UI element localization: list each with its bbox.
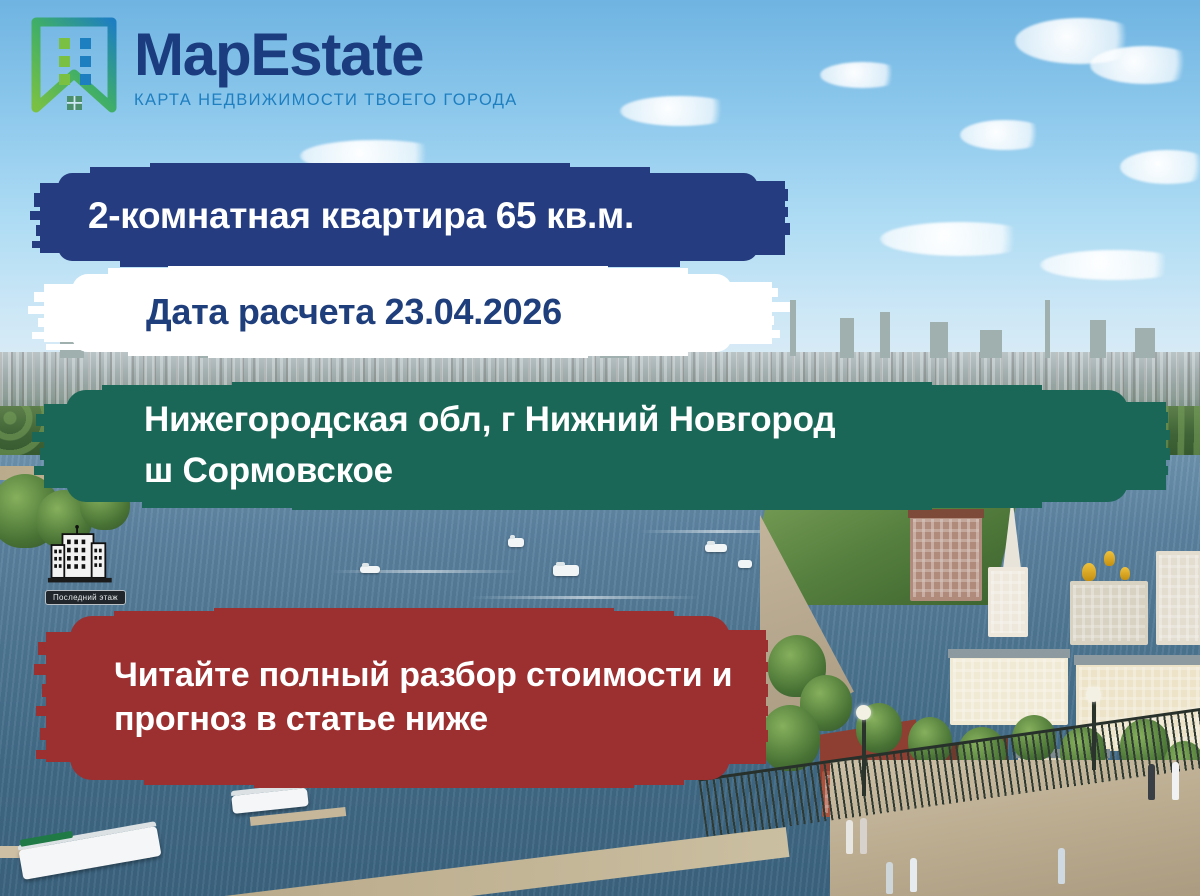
golden-dome-icon (1082, 563, 1096, 581)
address-line-1: Нижегородская обл, г Нижний Новгород (144, 398, 1132, 443)
property-title-banner: 2-комнатная квартира 65 кв.м. (30, 163, 790, 269)
logo-text-block: MapEstate КАРТА НЕДВИЖИМОСТИ ТВОЕГО ГОРО… (134, 23, 518, 109)
golden-dome-icon (1120, 567, 1130, 580)
property-title-text: 2-комнатная квартира 65 кв.м. (30, 192, 790, 239)
building-icon (42, 525, 134, 587)
building (988, 567, 1028, 637)
building (1070, 581, 1148, 645)
building (910, 515, 982, 601)
calculation-date-banner: Дата расчета 23.04.2026 (28, 266, 790, 358)
street-lamp-icon (862, 718, 866, 796)
skyline-building (1090, 320, 1106, 358)
golden-dome-icon (1104, 551, 1115, 566)
cloud-icon (820, 62, 905, 88)
boat-icon (705, 544, 727, 552)
cloud-icon (880, 222, 1040, 256)
skyline-building (790, 300, 796, 356)
skyline-building (980, 330, 1002, 358)
building (950, 655, 1068, 725)
boat-wake (470, 596, 700, 599)
cta-text: Читайте полный разбор стоимости и прогно… (34, 654, 768, 741)
cta-banner[interactable]: Читайте полный разбор стоимости и прогно… (34, 608, 768, 788)
building (1156, 551, 1200, 645)
roof (1074, 655, 1200, 665)
skyline-building (1135, 328, 1155, 358)
address-text-block: Нижегородская обл, г Нижний Новгород ш С… (32, 398, 1172, 494)
boat-icon (738, 560, 752, 568)
logo-title: MapEstate (134, 25, 518, 85)
pedestrian (846, 820, 853, 854)
boat-icon (360, 566, 380, 573)
skyline-building (880, 312, 890, 358)
skyline-building (930, 322, 948, 358)
street-lamp-icon (1092, 700, 1096, 770)
boat-icon (508, 538, 524, 547)
pedestrian (910, 858, 917, 892)
cloud-icon (960, 120, 1050, 150)
watermark-label: Последний этаж (45, 590, 126, 605)
watermark: Последний этаж (42, 525, 134, 605)
address-line-2: ш Сормовское (144, 449, 1132, 494)
pedestrian (860, 818, 867, 854)
cloud-icon (1040, 250, 1190, 280)
roof (948, 649, 1070, 658)
boat-wake (330, 570, 520, 573)
cloud-icon (1090, 46, 1200, 84)
bookmark-building-icon (28, 16, 120, 116)
logo-tagline: КАРТА НЕДВИЖИМОСТИ ТВОЕГО ГОРОДА (134, 92, 518, 109)
boat-icon (553, 565, 579, 576)
roof (908, 509, 984, 518)
address-banner: Нижегородская обл, г Нижний Новгород ш С… (32, 382, 1172, 510)
skyline-building (1045, 300, 1050, 358)
pedestrian (1148, 764, 1155, 800)
pedestrian (886, 862, 893, 894)
tree-icon (760, 705, 820, 771)
cloud-icon (620, 96, 740, 126)
brand-logo[interactable]: MapEstate КАРТА НЕДВИЖИМОСТИ ТВОЕГО ГОРО… (28, 16, 518, 116)
pedestrian (1172, 762, 1179, 800)
calculation-date-text: Дата расчета 23.04.2026 (28, 289, 790, 335)
pedestrian (1058, 848, 1065, 884)
skyline-building (840, 318, 854, 358)
